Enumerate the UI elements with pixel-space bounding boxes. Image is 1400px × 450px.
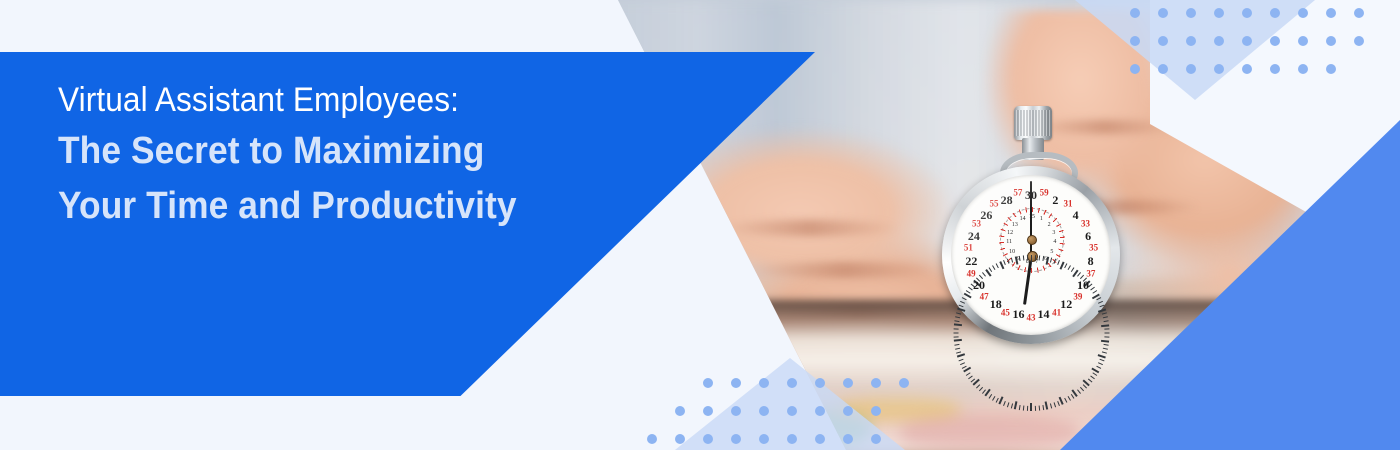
decor-dot <box>787 434 797 444</box>
stopwatch-dial-number-red: 37 <box>1086 270 1095 279</box>
decor-dot <box>703 378 713 388</box>
decor-dot <box>787 406 797 416</box>
stopwatch-dial-number-red: 55 <box>989 200 998 209</box>
decor-dot <box>675 434 685 444</box>
stopwatch-subdial-number: 14 <box>1020 216 1026 222</box>
stopwatch-dial-number: 2 <box>1052 194 1058 206</box>
decor-dot <box>759 406 769 416</box>
decor-dot <box>1242 36 1252 46</box>
stopwatch-dial-number-red: 39 <box>1073 293 1082 302</box>
stopwatch-dial-number: 30 <box>1025 189 1037 201</box>
decor-dot <box>703 406 713 416</box>
stopwatch-subdial-number: 12 <box>1007 230 1013 236</box>
decor-dot <box>1186 64 1196 74</box>
headline-line-3: Your Time and Productivity <box>58 179 579 234</box>
decor-dot <box>871 406 881 416</box>
decor-dot <box>1270 8 1280 18</box>
decor-dot <box>1214 36 1224 46</box>
stopwatch-dial-number-red: 57 <box>1013 189 1022 198</box>
stopwatch-subdial-number: 4 <box>1053 239 1056 245</box>
stopwatch-case: 151234567891011121314 302468101214161820… <box>942 166 1120 344</box>
decor-dot <box>843 378 853 388</box>
decor-dot <box>843 434 853 444</box>
stopwatch-dial-number-red: 33 <box>1081 219 1090 228</box>
decor-dot <box>815 378 825 388</box>
headline-line-1: Virtual Assistant Employees: <box>58 78 579 124</box>
stopwatch-bezel: 151234567891011121314 302468101214161820… <box>951 175 1111 335</box>
decor-dot <box>1242 8 1252 18</box>
stopwatch-dial-number: 24 <box>968 230 980 242</box>
decor-dot <box>1214 8 1224 18</box>
decor-dot <box>1354 36 1364 46</box>
stopwatch-subdial-number: 5 <box>1050 249 1053 255</box>
decor-dot <box>1326 36 1336 46</box>
stopwatch-dial-number: 12 <box>1060 298 1072 310</box>
stopwatch-subdial-number: 1 <box>1040 216 1043 222</box>
decor-dot <box>731 406 741 416</box>
stopwatch-subdial-number: 10 <box>1009 249 1015 255</box>
decor-dot <box>731 434 741 444</box>
decor-dot <box>647 434 657 444</box>
decor-dot <box>1158 36 1168 46</box>
promo-banner: 151234567891011121314 302468101214161820… <box>0 0 1400 450</box>
decor-dot <box>1298 36 1308 46</box>
decor-dot <box>815 406 825 416</box>
decor-dot <box>1214 64 1224 74</box>
stopwatch-dial-number-red: 41 <box>1052 308 1061 317</box>
stopwatch-dial-number: 10 <box>1077 279 1089 291</box>
decor-dot <box>1158 8 1168 18</box>
headline-line-2: The Secret to Maximizing <box>58 124 579 179</box>
stopwatch-dial-number: 20 <box>973 279 985 291</box>
decor-dot <box>1354 8 1364 18</box>
stopwatch-dial-number-red: 59 <box>1040 189 1049 198</box>
stopwatch-crown <box>1014 106 1052 140</box>
stopwatch-dial-number-red: 53 <box>972 219 981 228</box>
stopwatch-dial-number: 16 <box>1013 308 1025 320</box>
desk-paper-pink <box>900 416 1080 450</box>
stopwatch-dial-number-red: 43 <box>1027 314 1036 323</box>
decor-dot <box>1130 64 1140 74</box>
stopwatch-dial-number: 22 <box>965 255 977 267</box>
knuckle-crease <box>720 220 900 236</box>
decor-dot <box>1130 36 1140 46</box>
decor-dot <box>1270 64 1280 74</box>
stopwatch-dial-number-red: 45 <box>1001 308 1010 317</box>
decor-dot <box>675 406 685 416</box>
stopwatch-dial-number: 8 <box>1088 255 1094 267</box>
stopwatch-dial-number-red: 49 <box>967 270 976 279</box>
decor-dot <box>703 434 713 444</box>
stopwatch-subdial-pin <box>1027 235 1037 245</box>
decor-dot <box>1186 36 1196 46</box>
decor-dot <box>787 378 797 388</box>
stopwatch-subdial-number: 11 <box>1006 239 1012 245</box>
decor-dot <box>871 434 881 444</box>
decor-dot <box>759 378 769 388</box>
decor-dot <box>1242 64 1252 74</box>
decor-dot <box>731 378 741 388</box>
decor-dot <box>1270 36 1280 46</box>
decor-dot <box>759 434 769 444</box>
knuckle-crease <box>750 262 940 278</box>
stopwatch-dial-number: 28 <box>1001 194 1013 206</box>
headline-block: Virtual Assistant Employees: The Secret … <box>58 78 618 234</box>
decor-dot <box>1298 8 1308 18</box>
stopwatch-dial-number-red: 31 <box>1064 200 1073 209</box>
stopwatch-subdial-number: 2 <box>1048 222 1051 228</box>
decor-dot <box>843 406 853 416</box>
stopwatch-dial-number: 14 <box>1037 308 1049 320</box>
decor-dot <box>1186 8 1196 18</box>
decor-dot <box>899 378 909 388</box>
decor-dot <box>815 434 825 444</box>
stopwatch-dial-number-red: 35 <box>1089 244 1098 253</box>
decor-dot <box>1130 8 1140 18</box>
stopwatch-subdial-number: 13 <box>1012 222 1018 228</box>
stopwatch-dial-number: 6 <box>1085 230 1091 242</box>
decor-dot <box>1158 64 1168 74</box>
stopwatch-dial-number-red: 51 <box>964 244 973 253</box>
stopwatch-dial-number: 26 <box>980 209 992 221</box>
stopwatch-subdial-number: 3 <box>1052 230 1055 236</box>
decor-dot <box>871 378 881 388</box>
stopwatch-dial-number-red: 47 <box>980 293 989 302</box>
decor-dot <box>1326 8 1336 18</box>
stopwatch-dial-number: 4 <box>1073 209 1079 221</box>
stopwatch-icon: 151234567891011121314 302468101214161820… <box>930 62 1130 362</box>
stopwatch-dial: 151234567891011121314 302468101214161820… <box>951 175 1111 335</box>
decor-dot <box>1326 64 1336 74</box>
decor-dot <box>1298 64 1308 74</box>
